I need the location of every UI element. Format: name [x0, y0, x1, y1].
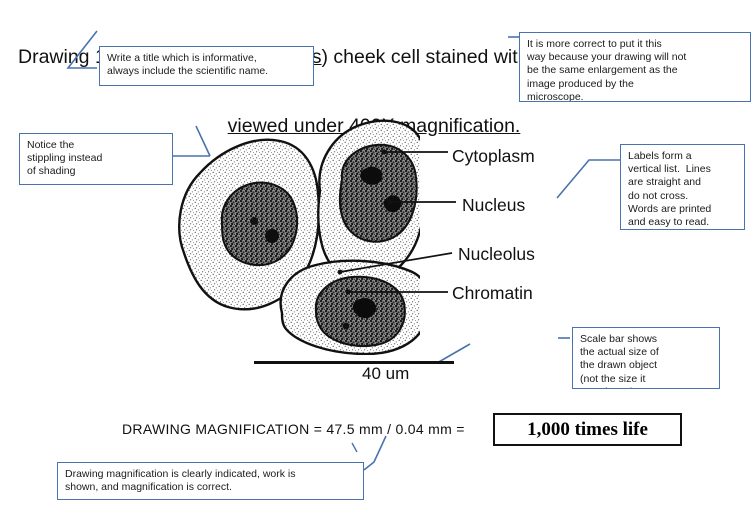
- cheek-cell-drawing: [170, 105, 420, 355]
- callout-scale-bar-rule: Scale bar shows the actual size of the d…: [572, 327, 720, 389]
- label-nucleus: Nucleus: [462, 195, 525, 215]
- nucleus-upper-left: [222, 183, 297, 266]
- callout-magnification-rule: Drawing magnification is clearly indicat…: [57, 462, 364, 500]
- nucleolus-upper-left: [265, 229, 279, 243]
- magnification-answer-box: 1,000 times life: [493, 413, 682, 446]
- callout-stippling: Notice the stippling instead of shading: [19, 133, 173, 185]
- magnification-formula: DRAWING MAGNIFICATION = 47.5 mm / 0.04 m…: [122, 421, 465, 437]
- scale-bar-label: 40 um: [362, 364, 409, 384]
- callout-write-title: Write a title which is informative, alwa…: [99, 46, 314, 86]
- worksheet-page: Drawing 1: Human (Homo sapiens) cheek ce…: [0, 0, 755, 507]
- label-cytoplasm: Cytoplasm: [452, 146, 535, 166]
- callout-labels-rule: Labels form a vertical list. Lines are s…: [620, 144, 745, 230]
- callout-more-correct: It is more correct to put it this way be…: [519, 32, 751, 102]
- label-chromatin: Chromatin: [452, 283, 533, 303]
- magnification-answer: 1,000 times life: [527, 419, 648, 441]
- scale-bar: [254, 361, 454, 364]
- nucleus-upper-right: [340, 145, 417, 242]
- label-nucleolus: Nucleolus: [458, 244, 535, 264]
